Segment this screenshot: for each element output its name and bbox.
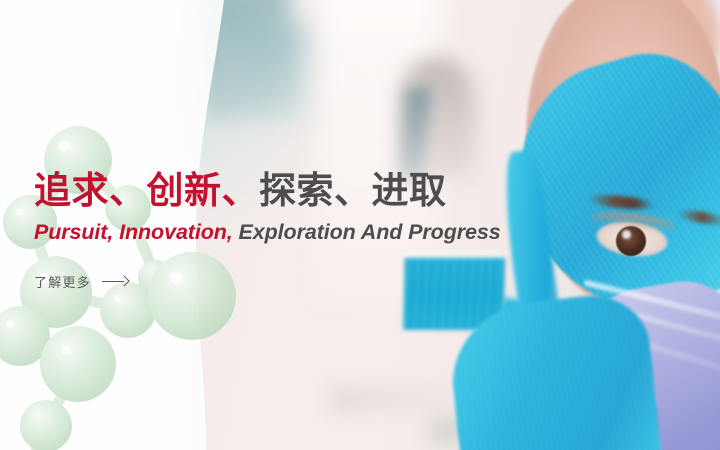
shoulder-gown — [445, 290, 663, 450]
page-title: 追求、创新、探索、进取 — [34, 170, 654, 212]
hero-banner: 追求、创新、探索、进取 Pursuit, Innovation, Explora… — [0, 0, 720, 450]
hero-content: 追求、创新、探索、进取 Pursuit, Innovation, Explora… — [34, 170, 654, 292]
subtitle-highlight: Pursuit, Innovation, — [34, 220, 239, 244]
gown-stripe-pattern — [445, 290, 663, 450]
arrow-right-icon — [102, 276, 128, 286]
learn-more-label: 了解更多 — [34, 272, 91, 291]
learn-more-link[interactable]: 了解更多 — [34, 272, 128, 291]
subtitle-rest: Exploration And Progress — [239, 220, 501, 244]
molecule-atom — [40, 326, 116, 402]
headline-rest: 探索、进取 — [259, 170, 447, 211]
molecule-atom — [20, 400, 72, 450]
headline-highlight: 追求、创新、 — [34, 170, 259, 211]
page-subtitle: Pursuit, Innovation, Exploration And Pro… — [34, 220, 654, 246]
